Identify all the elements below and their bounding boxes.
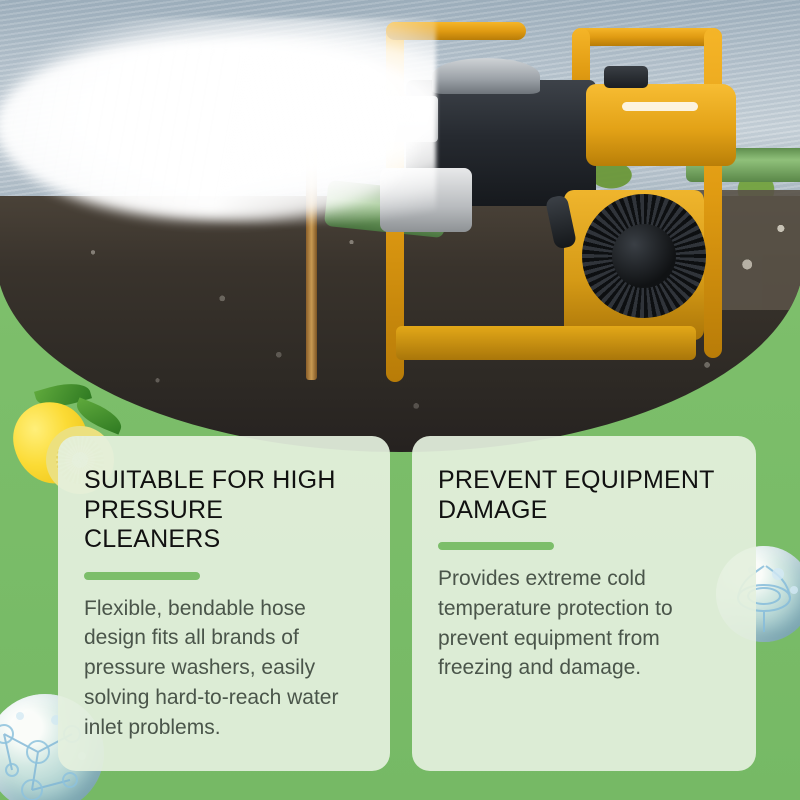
pump-fuel-cap: [604, 66, 648, 88]
pump-base-plate: [396, 326, 696, 360]
pump-frame-leg-right: [704, 28, 722, 358]
pump-air-filter: [432, 58, 540, 94]
feature-card-title: PREVENT EQUIPMENT DAMAGE: [438, 466, 730, 525]
pump-frame-top-right: [572, 28, 722, 46]
feature-card-body: Provides extreme cold temperature protec…: [438, 564, 730, 683]
feature-card-title: SUITABLE FOR HIGH PRESSURE CLEANERS: [84, 466, 364, 555]
photo-water-jet-core: [0, 40, 416, 220]
feature-card-prevent-equipment-damage[interactable]: PREVENT EQUIPMENT DAMAGE Provides extrem…: [412, 436, 756, 771]
title-accent-bar: [438, 542, 554, 550]
pump-recoil-center: [612, 224, 676, 288]
product-feature-banner: SUITABLE FOR HIGH PRESSURE CLEANERS Flex…: [0, 0, 800, 800]
pump-tank-highlight: [622, 102, 698, 111]
title-accent-bar: [84, 572, 200, 580]
feature-card-body: Flexible, bendable hose design fits all …: [84, 594, 364, 743]
feature-card-suitable-for-high-pressure-cleaners[interactable]: SUITABLE FOR HIGH PRESSURE CLEANERS Flex…: [58, 436, 390, 771]
pump-fuel-tank: [586, 84, 736, 166]
